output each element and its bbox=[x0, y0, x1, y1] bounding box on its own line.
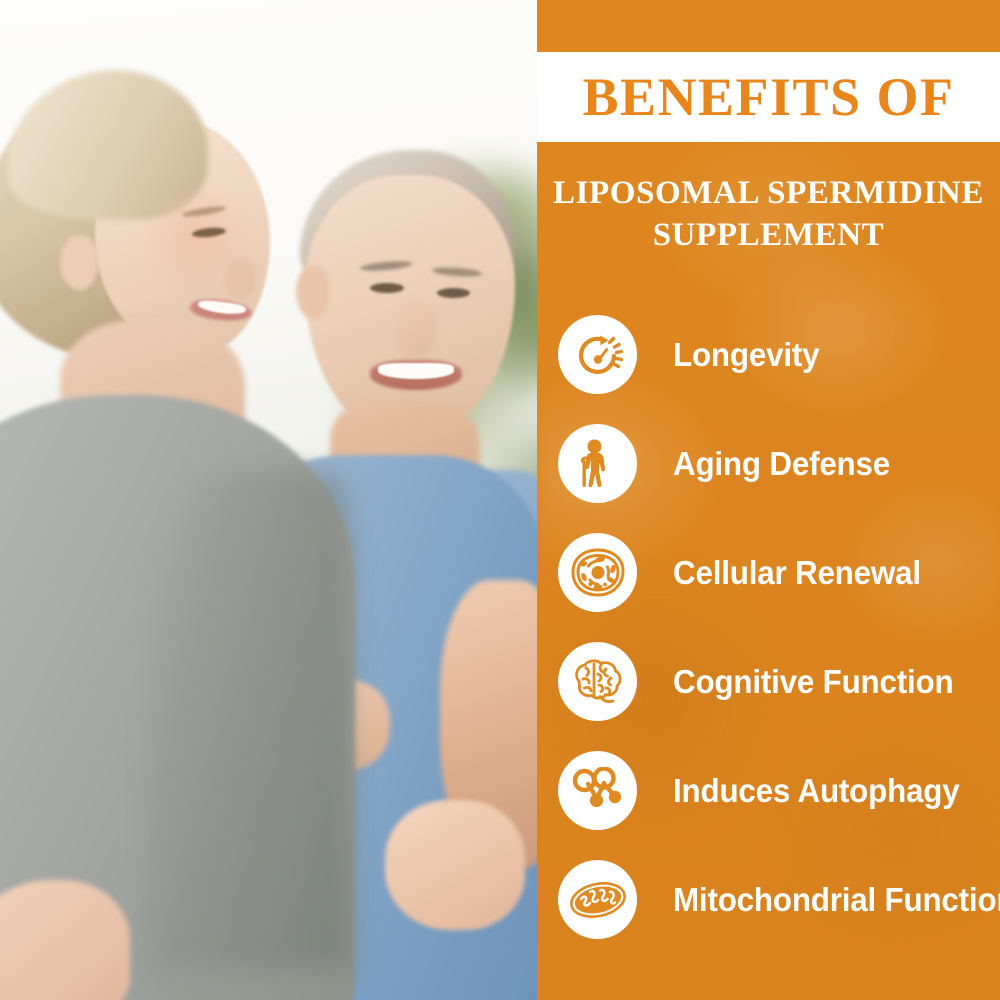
subtitle-line-1: LIPOSOMAL SPERMIDINE bbox=[549, 172, 988, 214]
lifestyle-photo bbox=[0, 0, 537, 1000]
brain-icon bbox=[558, 642, 637, 721]
benefit-item-mitochondrial-function[interactable]: Mitochondrial Function bbox=[537, 845, 1000, 954]
cell-nucleus-icon bbox=[558, 533, 637, 612]
subtitle: LIPOSOMAL SPERMIDINE SUPPLEMENT bbox=[549, 172, 988, 256]
page-title: BENEFITS OF bbox=[582, 70, 954, 124]
mitochondria-icon bbox=[558, 860, 637, 939]
woman-ear bbox=[60, 235, 98, 290]
man-eye-right bbox=[437, 288, 470, 298]
benefit-label: Mitochondrial Function bbox=[673, 881, 1000, 919]
benefit-item-longevity[interactable]: Longevity bbox=[537, 300, 1000, 409]
benefits-list: Longevity Aging Defense bbox=[537, 300, 1000, 954]
woman-shirt-shadow bbox=[150, 470, 350, 970]
benefits-panel: BENEFITS OF LIPOSOMAL SPERMIDINE SUPPLEM… bbox=[537, 0, 1000, 1000]
man-teeth bbox=[378, 363, 454, 379]
elderly-person-cane-icon bbox=[558, 424, 637, 503]
gauge-speedometer-icon bbox=[558, 315, 637, 394]
woman-arm bbox=[0, 880, 130, 1000]
benefit-item-cognitive-function[interactable]: Cognitive Function bbox=[537, 627, 1000, 736]
man-ear bbox=[296, 265, 330, 319]
benefit-label: Longevity bbox=[673, 336, 819, 374]
benefit-item-aging-defense[interactable]: Aging Defense bbox=[537, 409, 1000, 518]
benefit-label: Cognitive Function bbox=[673, 663, 953, 701]
man-fist bbox=[385, 800, 525, 930]
benefit-label: Cellular Renewal bbox=[673, 554, 921, 592]
man-eye-left bbox=[370, 283, 404, 293]
benefit-item-cellular-renewal[interactable]: Cellular Renewal bbox=[537, 518, 1000, 627]
benefit-label: Induces Autophagy bbox=[673, 772, 959, 810]
benefits-poster: BENEFITS OF LIPOSOMAL SPERMIDINE SUPPLEM… bbox=[0, 0, 1000, 1000]
subtitle-line-2: SUPPLEMENT bbox=[549, 214, 988, 256]
woman-nose bbox=[224, 258, 256, 298]
title-band: BENEFITS OF bbox=[537, 52, 1000, 142]
molecule-vesicle-icon bbox=[558, 751, 637, 830]
benefit-label: Aging Defense bbox=[673, 445, 890, 483]
benefit-item-induces-autophagy[interactable]: Induces Autophagy bbox=[537, 736, 1000, 845]
